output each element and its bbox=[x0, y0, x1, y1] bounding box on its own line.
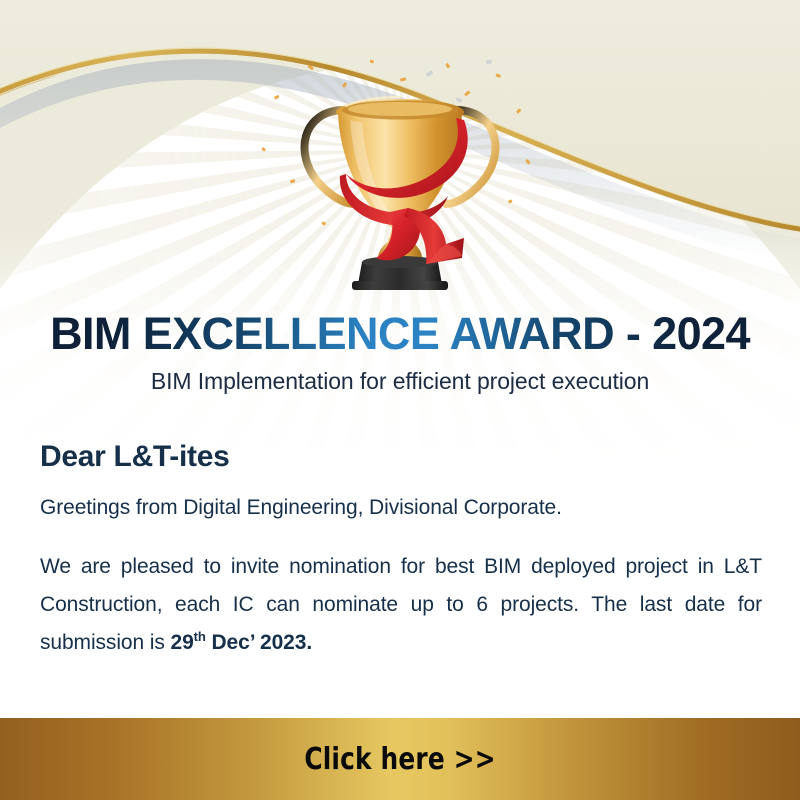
paragraph-prefix: We are pleased to invite nomination for … bbox=[40, 555, 762, 654]
deadline-ordinal: th bbox=[194, 629, 206, 644]
award-poster: BIM EXCELLENCE AWARD - 2024 BIM Implemen… bbox=[0, 0, 800, 800]
click-here-label: Click here >> bbox=[304, 742, 495, 777]
salutation: Dear L&T-ites bbox=[40, 440, 762, 474]
deadline-date: 29th Dec’ 2023. bbox=[170, 631, 312, 654]
page-subtitle: BIM Implementation for efficient project… bbox=[0, 368, 800, 395]
deadline-day: 29 bbox=[170, 631, 193, 654]
body-copy: Dear L&T-ites Greetings from Digital Eng… bbox=[40, 440, 762, 663]
page-title: BIM EXCELLENCE AWARD - 2024 bbox=[0, 310, 800, 357]
click-here-button[interactable]: Click here >> bbox=[0, 718, 800, 800]
greeting-line: Greetings from Digital Engineering, Divi… bbox=[40, 496, 762, 520]
invitation-paragraph: We are pleased to invite nomination for … bbox=[40, 548, 762, 663]
deadline-rest: Dec’ 2023. bbox=[206, 631, 312, 654]
trophy-icon bbox=[0, 52, 800, 292]
